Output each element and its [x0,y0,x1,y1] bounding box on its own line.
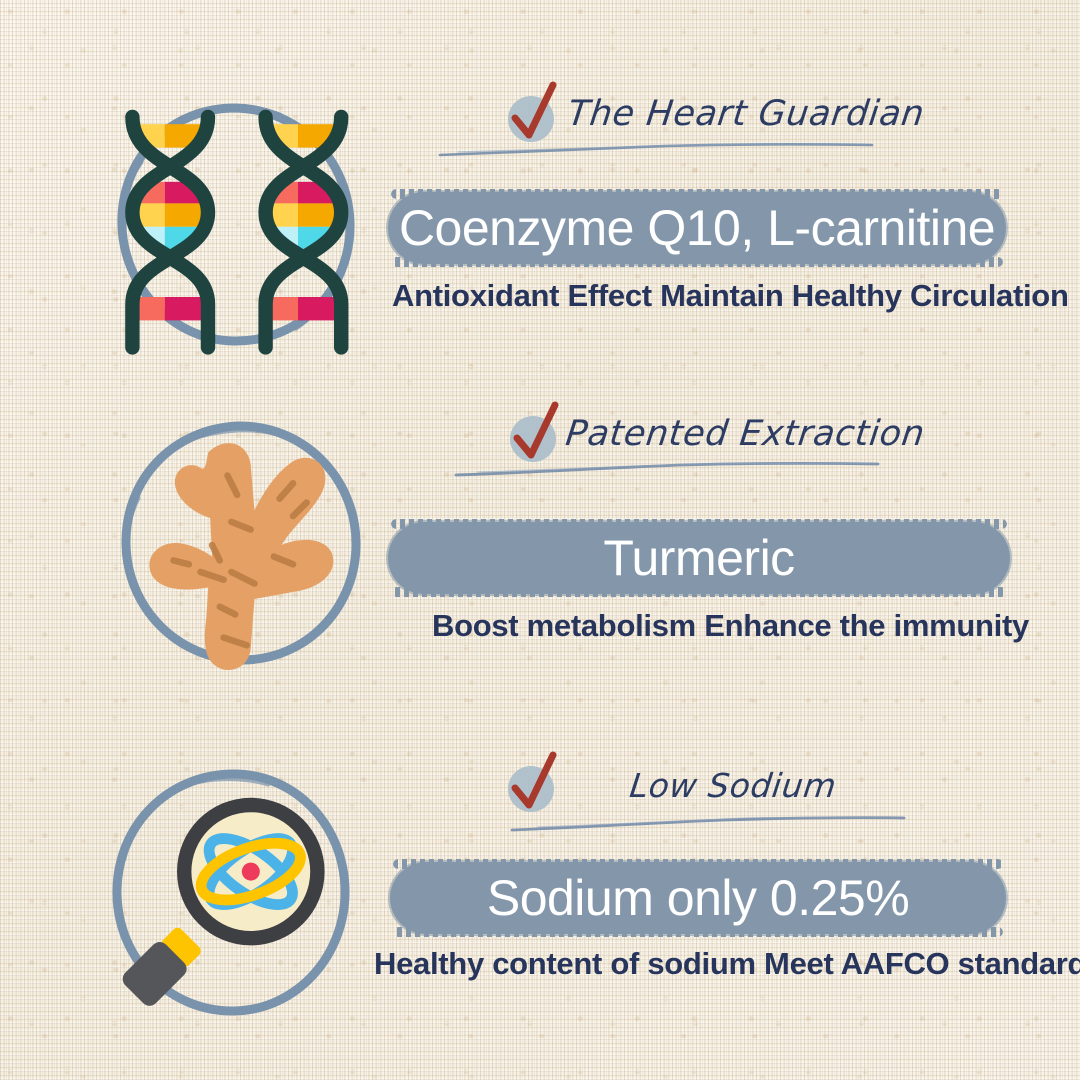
feature-title-pill[interactable]: Turmeric [388,522,1010,594]
feature-list: The Heart Guardian Coenzyme Q10, L-carni… [0,0,1080,1080]
check-mark-icon [508,96,554,142]
feature-title-pill[interactable]: Sodium only 0.25% [390,862,1006,934]
feature-content: The Heart Guardian Coenzyme Q10, L-carni… [380,90,1020,156]
check-mark-icon [510,416,556,462]
feature-eyebrow-text: The Heart Guardian [566,94,927,134]
feature-subtitle: Healthy content of sodium Meet AAFCO sta… [374,946,1080,982]
icon-ring-turmeric [106,410,376,680]
underline-swoosh-icon [508,816,908,832]
feature-title-text: Sodium only 0.25% [487,869,909,927]
feature-title-text: Turmeric [603,529,794,587]
icon-ring-dna [100,90,370,360]
feature-subtitle: Boost metabolism Enhance the immunity [432,608,1029,644]
feature-eyebrow-line: Patented Extraction [380,410,1020,476]
feature-content: Patented Extraction Turmeric Boost metab… [380,410,1020,476]
feature-eyebrow-text: Low Sodium [628,766,839,805]
feature-subtitle: Antioxidant Effect Maintain Healthy Circ… [392,278,1069,314]
feature-content: Low Sodium Sodium only 0.25% Healthy con… [380,760,1020,826]
feature-eyebrow-text: Patented Extraction [564,414,928,454]
underline-swoosh-icon [452,462,882,478]
feature-title-text: Coenzyme Q10, L-carnitine [399,199,995,257]
feature-eyebrow-line: Low Sodium [380,760,1020,826]
dna-double-helix-icon [100,90,370,360]
feature-title-pill[interactable]: Coenzyme Q10, L-carnitine [388,192,1006,264]
magnifier-atom-icon [96,760,366,1030]
icon-ring-sodium [96,760,366,1030]
turmeric-root-icon [106,410,376,680]
underline-swoosh-icon [436,142,876,158]
check-mark-icon [508,766,554,812]
feature-eyebrow-line: The Heart Guardian [380,90,1020,156]
